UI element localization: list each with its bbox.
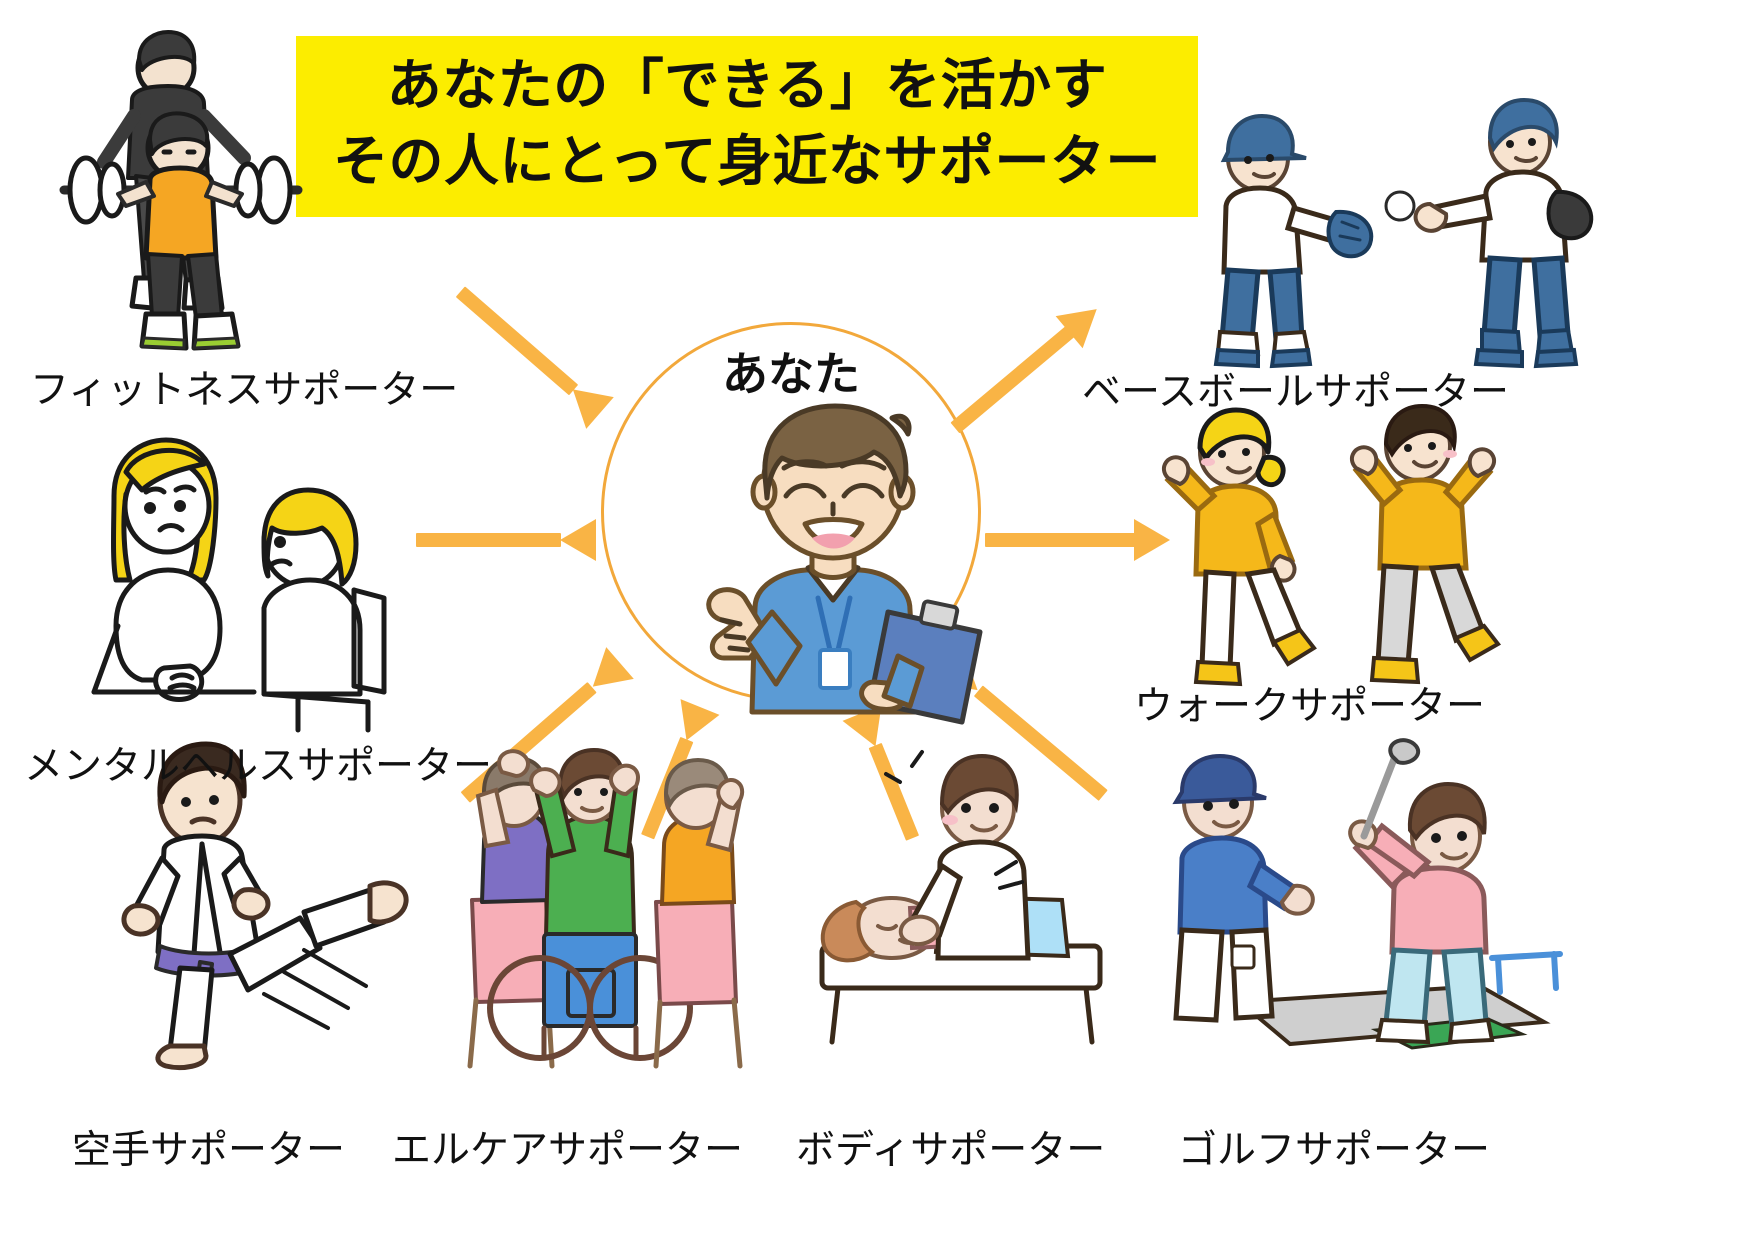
illustration-baseball <box>1190 100 1620 400</box>
label-baseball: ベースボールサポーター <box>1082 372 1509 415</box>
illustration-mental-health <box>68 430 408 730</box>
title-line-2: その人にとって身近なサポーター <box>333 124 1161 200</box>
infographic-canvas: あなたの「できる」を活かす その人にとって身近なサポーター <box>0 0 1748 1240</box>
label-karate: 空手サポーター <box>72 1130 345 1173</box>
illustration-center-staff <box>660 400 990 720</box>
illustration-golf <box>1140 740 1560 1060</box>
arrow-to-mental-health <box>416 527 596 553</box>
illustration-body <box>800 750 1120 1050</box>
arrow-to-fitness <box>452 282 609 423</box>
center-label: あなた <box>601 338 981 404</box>
label-walk: ウォークサポーター <box>1134 686 1485 729</box>
illustration-walk <box>1150 410 1530 710</box>
title-line-1: あなたの「できる」を活かす <box>387 48 1107 124</box>
label-fitness: フィットネスサポーター <box>30 370 458 413</box>
label-body: ボディサポーター <box>796 1130 1105 1173</box>
illustration-karate <box>108 740 418 1070</box>
illustration-elcare <box>440 750 770 1070</box>
label-golf: ゴルフサポーター <box>1178 1130 1490 1173</box>
label-elcare: エルケアサポーター <box>392 1130 743 1173</box>
arrow-to-walk <box>985 527 1170 553</box>
label-mental-health: メンタルヘルスサポーター <box>24 746 492 789</box>
illustration-fitness <box>46 30 316 370</box>
title-banner: あなたの「できる」を活かす その人にとって身近なサポーター <box>296 36 1198 217</box>
